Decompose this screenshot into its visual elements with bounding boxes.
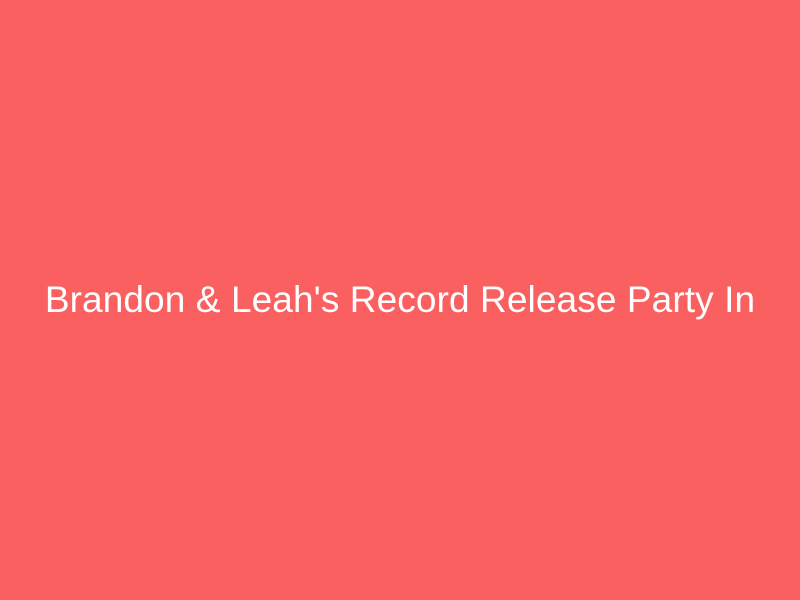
placeholder-title-text: Brandon & Leah's Record Release Party In: [45, 279, 755, 322]
placeholder-image-canvas: Brandon & Leah's Record Release Party In: [0, 0, 800, 600]
